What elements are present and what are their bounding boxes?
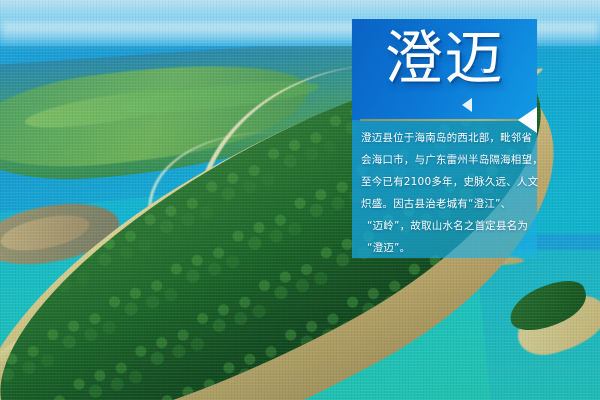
description-line: 炽盛。因古县治老城有“澄江”、 (361, 193, 531, 215)
description-text: 澄迈县位于海南岛的西北部，毗邻省 会海口市，与广东雷州半岛隔海相望， 至今已有2… (361, 127, 531, 259)
description-line: “澄迈”。 (361, 237, 531, 259)
description-line: 至今已有2100多年，史脉久远、人文 (361, 171, 531, 193)
banner-stage: 澄迈 澄迈县位于海南岛的西北部，毗邻省 会海口市，与广东雷州半岛隔海相望， 至今… (0, 0, 600, 400)
title-divider (360, 119, 522, 121)
triangle-left-icon-small (462, 98, 472, 112)
description-line: 澄迈县位于海南岛的西北部，毗邻省 (361, 127, 531, 149)
info-panel: 澄迈 澄迈县位于海南岛的西北部，毗邻省 会海口市，与广东雷州半岛隔海相望， 至今… (352, 19, 537, 258)
page-title: 澄迈 (352, 27, 537, 90)
description-line: 会海口市，与广东雷州半岛隔海相望， (361, 149, 531, 171)
description-line: “迈岭”，故取山水名之首定县名为 (361, 215, 531, 237)
